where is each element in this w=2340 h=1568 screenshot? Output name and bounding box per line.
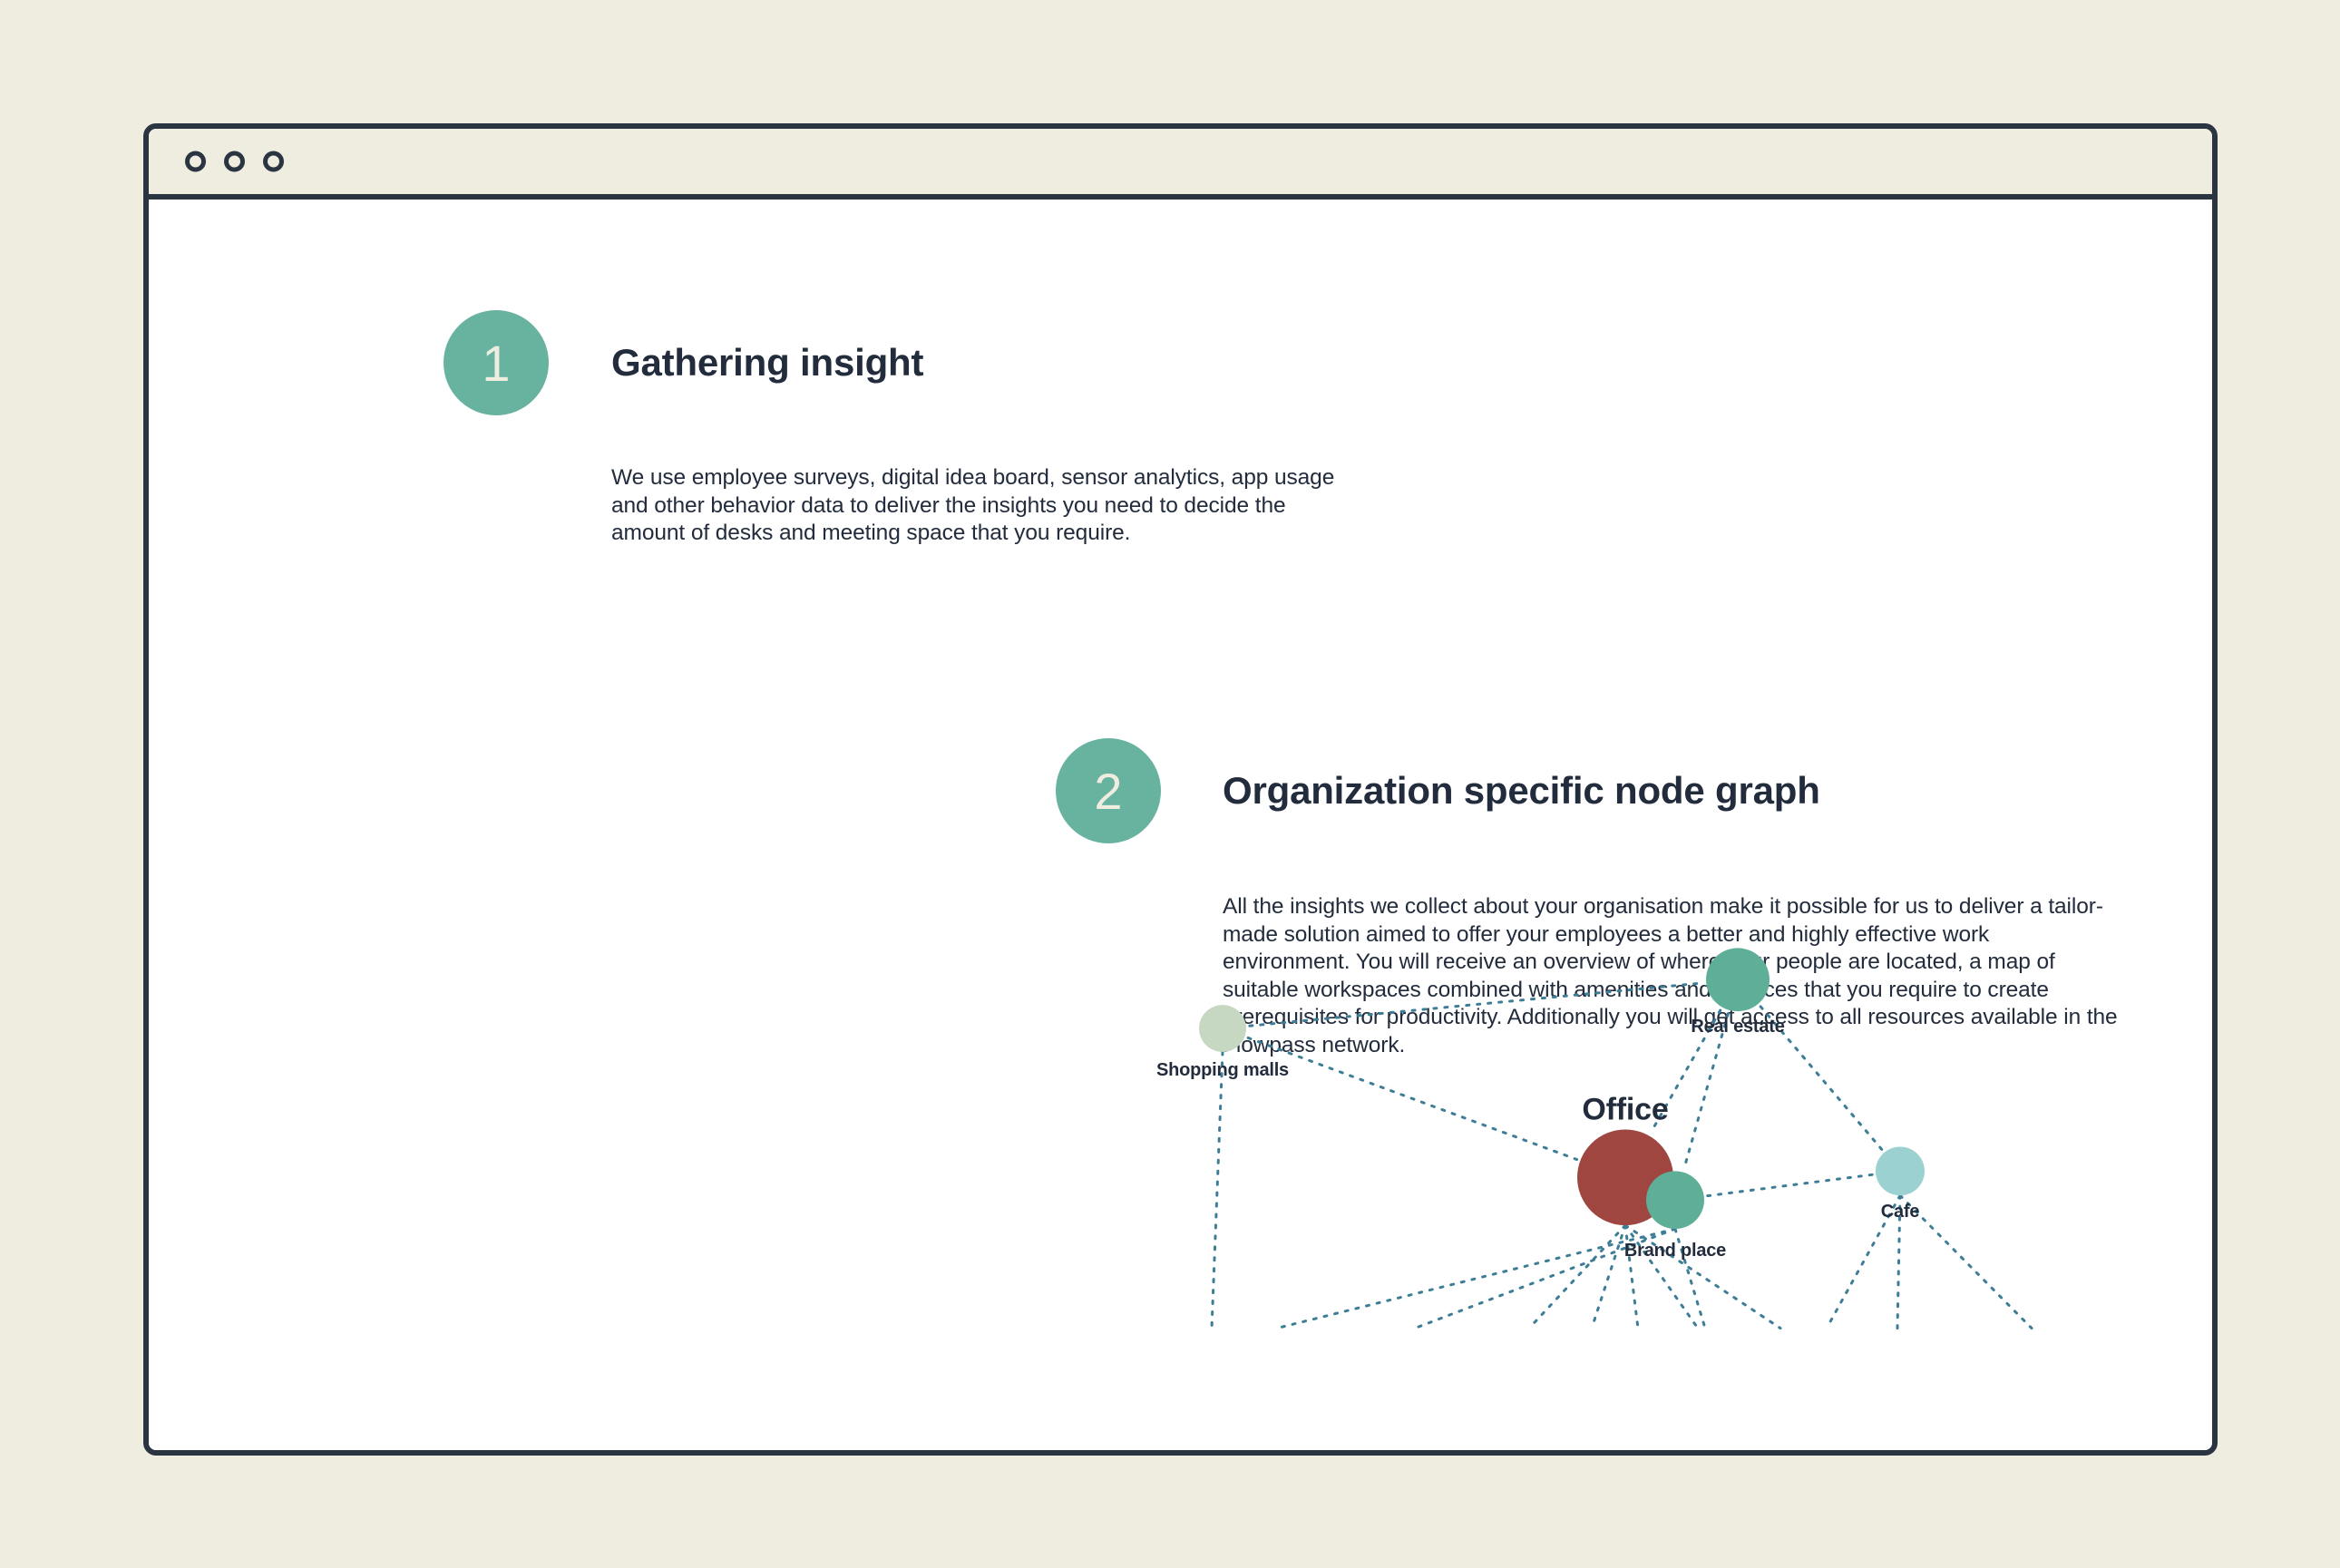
graph-node-label-office: Office (1582, 1093, 1668, 1127)
step-gathering-insight: 1 Gathering insight We use employee surv… (444, 310, 1364, 548)
step-1-title: Gathering insight (611, 341, 923, 385)
graph-node-label-cafe: Cafe (1881, 1202, 1920, 1222)
graph-node-label-shopping_malls: Shopping malls (1156, 1060, 1289, 1080)
close-icon[interactable] (185, 151, 206, 172)
step-2-title: Organization specific node graph (1223, 769, 1820, 813)
browser-titlebar (149, 129, 2212, 200)
graph-edge-offscreen (1277, 1229, 1675, 1329)
step-2-description: All the insights we collect about your o… (1223, 893, 2121, 1059)
graph-node-brand_place[interactable] (1646, 1171, 1704, 1229)
step-2-number-badge: 2 (1056, 738, 1161, 843)
page-canvas: 1 Gathering insight We use employee surv… (0, 0, 2340, 1568)
graph-edge (1645, 1186, 1672, 1198)
graph-node-label-brand_place: Brand place (1624, 1241, 1726, 1261)
graph-edge-offscreen (1625, 1225, 1638, 1329)
maximize-icon[interactable] (263, 151, 284, 172)
graph-edge-offscreen (1625, 1225, 1698, 1329)
graph-edge-offscreen (1415, 1229, 1675, 1329)
graph-edge-offscreen (1675, 1229, 1705, 1329)
step-1-number-badge: 1 (444, 310, 549, 415)
graph-edge-offscreen (1900, 1195, 2032, 1328)
graph-node-cafe[interactable] (1876, 1146, 1925, 1195)
graph-edge-offscreen (1212, 1052, 1223, 1329)
graph-node-office[interactable] (1577, 1130, 1673, 1226)
graph-edge (1708, 1174, 1873, 1195)
step-1-header: 1 Gathering insight (444, 310, 1364, 415)
graph-edge-offscreen (1827, 1195, 1900, 1328)
minimize-icon[interactable] (224, 151, 245, 172)
step-1-description: We use employee surveys, digital idea bo… (611, 464, 1364, 548)
graph-edge-offscreen (1625, 1225, 1780, 1329)
graph-edge-offscreen (1897, 1195, 1900, 1328)
graph-edge-offscreen (1592, 1225, 1625, 1329)
step-node-graph: 2 Organization specific node graph All t… (1056, 738, 2121, 1059)
step-2-header: 2 Organization specific node graph (1056, 738, 2121, 843)
graph-edge-offscreen (1529, 1225, 1625, 1329)
browser-window: 1 Gathering insight We use employee surv… (143, 123, 2218, 1456)
page-viewport: 1 Gathering insight We use employee surv… (149, 200, 2212, 1450)
window-controls[interactable] (185, 151, 284, 172)
